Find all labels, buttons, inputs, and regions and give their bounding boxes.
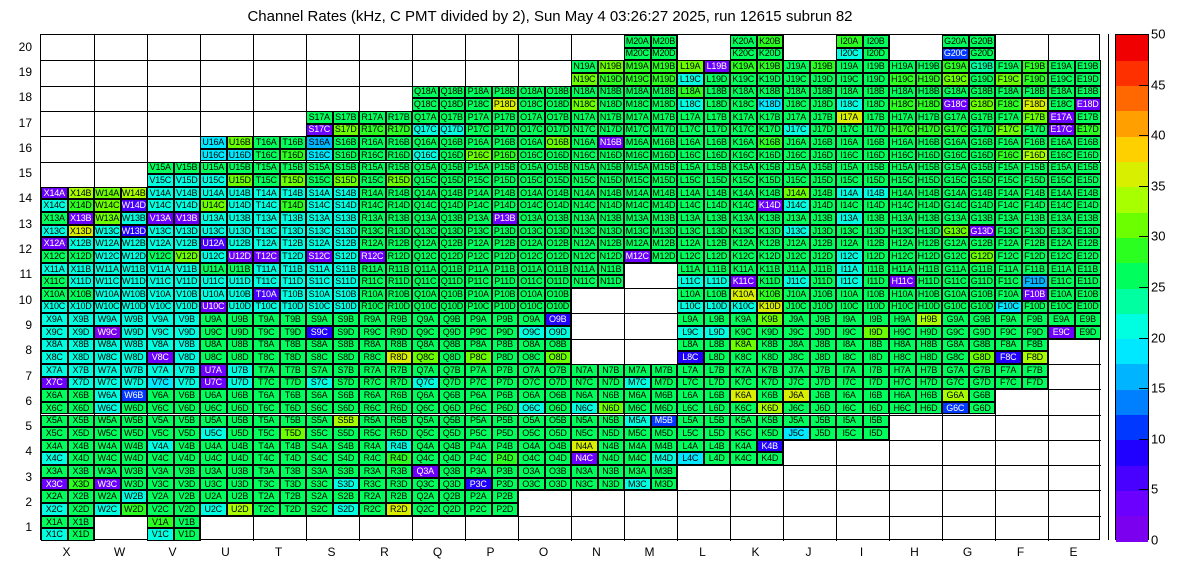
colorbar-tick-mark bbox=[1139, 388, 1149, 389]
heatmap-cell: P2C bbox=[465, 503, 492, 516]
heatmap-cell: T11D bbox=[280, 275, 307, 288]
heatmap-cell: H13B bbox=[916, 212, 943, 225]
heatmap-cell: V10B bbox=[174, 288, 201, 301]
heatmap-cell: E16C bbox=[1048, 149, 1075, 162]
heatmap-cell: X10C bbox=[41, 301, 68, 314]
heatmap-cell: W8C bbox=[94, 351, 121, 364]
heatmap-cell: M4C bbox=[624, 452, 651, 465]
heatmap-cell: F8B bbox=[1022, 339, 1049, 352]
heatmap-cell: S10B bbox=[333, 288, 360, 301]
heatmap-cell: J10A bbox=[783, 288, 810, 301]
heatmap-cell: W10D bbox=[121, 301, 148, 314]
heatmap-cell: V6D bbox=[174, 402, 201, 415]
heatmap-cell: U6D bbox=[227, 402, 254, 415]
heatmap-cell: H17A bbox=[889, 111, 916, 124]
heatmap-cell: R2C bbox=[359, 503, 386, 516]
heatmap-cell: P15A bbox=[465, 162, 492, 175]
heatmap-cell: Q18C bbox=[412, 98, 439, 111]
heatmap-cell: J14A bbox=[783, 187, 810, 200]
heatmap-cell: U15B bbox=[227, 162, 254, 175]
heatmap-cell: F8C bbox=[995, 351, 1022, 364]
heatmap-cell: I11D bbox=[863, 275, 890, 288]
heatmap-cell: L14A bbox=[677, 187, 704, 200]
heatmap-cell: R12C bbox=[359, 250, 386, 263]
heatmap-cell: W9D bbox=[121, 326, 148, 339]
heatmap-cell: F7A bbox=[995, 364, 1022, 377]
heatmap-cell: S14C bbox=[306, 199, 333, 212]
heatmap-cell: M7C bbox=[624, 377, 651, 390]
heatmap-cell: V7C bbox=[147, 377, 174, 390]
heatmap-cell: N16B bbox=[598, 136, 625, 149]
heatmap-cell: S17C bbox=[306, 124, 333, 137]
heatmap-cell: X7C bbox=[41, 377, 68, 390]
heatmap-cell: O3A bbox=[518, 465, 545, 478]
heatmap-cell: J5A bbox=[783, 415, 810, 428]
heatmap-cell: X11C bbox=[41, 275, 68, 288]
heatmap-cell: O8D bbox=[545, 351, 572, 364]
heatmap-cell: T2D bbox=[280, 503, 307, 516]
x-axis-tick-label: M bbox=[623, 545, 676, 559]
heatmap-cell: N11A bbox=[571, 263, 598, 276]
heatmap-cell: L10D bbox=[704, 301, 731, 314]
heatmap-cell: H13D bbox=[916, 225, 943, 238]
heatmap-cell: T6A bbox=[253, 389, 280, 402]
heatmap-cell: X9D bbox=[68, 326, 95, 339]
heatmap-cell: K5D bbox=[757, 427, 784, 440]
heatmap-cell: T7D bbox=[280, 377, 307, 390]
heatmap-cell: F14B bbox=[1022, 187, 1049, 200]
heatmap-cell: I9A bbox=[836, 313, 863, 326]
heatmap-cell: M14B bbox=[651, 187, 678, 200]
heatmap-cell: N17D bbox=[598, 124, 625, 137]
grid-line-horizontal bbox=[41, 111, 1101, 112]
heatmap-cell: M20D bbox=[651, 48, 678, 61]
heatmap-cell: N5A bbox=[571, 415, 598, 428]
x-axis-tick-label: Q bbox=[411, 545, 464, 559]
y-axis-tick-label: 17 bbox=[0, 116, 32, 130]
heatmap-cell: R10B bbox=[386, 288, 413, 301]
heatmap-cell: J19A bbox=[783, 60, 810, 73]
heatmap-cell: T6C bbox=[253, 402, 280, 415]
heatmap-cell: N12B bbox=[598, 237, 625, 250]
heatmap-cell: X4B bbox=[68, 440, 95, 453]
heatmap-cell: T14D bbox=[280, 199, 307, 212]
heatmap-cell: Q2C bbox=[412, 503, 439, 516]
heatmap-cell: J15D bbox=[810, 174, 837, 187]
heatmap-cell: E9D bbox=[1075, 326, 1102, 339]
heatmap-cell: L5A bbox=[677, 415, 704, 428]
heatmap-cell: K13D bbox=[757, 225, 784, 238]
heatmap-cell: K20B bbox=[757, 35, 784, 48]
x-axis-tick-label: V bbox=[146, 545, 199, 559]
heatmap-cell: T9D bbox=[280, 326, 307, 339]
heatmap-cell: W2A bbox=[94, 490, 121, 503]
heatmap-cell: M3C bbox=[624, 478, 651, 491]
heatmap-cell: I19D bbox=[863, 73, 890, 86]
heatmap-cell: F16C bbox=[995, 149, 1022, 162]
heatmap-cell: X13D bbox=[68, 225, 95, 238]
heatmap-cell: H16C bbox=[889, 149, 916, 162]
heatmap-cell: Q9C bbox=[412, 326, 439, 339]
heatmap-cell: X1B bbox=[68, 516, 95, 529]
heatmap-cell: Q15A bbox=[412, 162, 439, 175]
heatmap-cell: U14B bbox=[227, 187, 254, 200]
heatmap-cell: N19C bbox=[571, 73, 598, 86]
heatmap-cell: U5A bbox=[200, 415, 227, 428]
heatmap-cell: H11D bbox=[916, 275, 943, 288]
heatmap-cell: O11D bbox=[545, 275, 572, 288]
heatmap-cell: L7B bbox=[704, 364, 731, 377]
heatmap-cell: V5B bbox=[174, 415, 201, 428]
heatmap-cell: K11D bbox=[757, 275, 784, 288]
heatmap-cell: R5B bbox=[386, 415, 413, 428]
y-axis-tick-label: 4 bbox=[0, 444, 32, 458]
heatmap-cell: L8D bbox=[704, 351, 731, 364]
heatmap-cell: M19D bbox=[651, 73, 678, 86]
heatmap-cell: R11C bbox=[359, 275, 386, 288]
colorbar-tick-label: 45 bbox=[1151, 77, 1165, 92]
heatmap-cell: P4A bbox=[465, 440, 492, 453]
heatmap-cell: I6D bbox=[863, 402, 890, 415]
heatmap-cell: P7B bbox=[492, 364, 519, 377]
x-axis-tick-label: F bbox=[994, 545, 1047, 559]
heatmap-cell: P13A bbox=[465, 212, 492, 225]
heatmap-cell: M16A bbox=[624, 136, 651, 149]
page-title: Channel Rates (kHz, C PMT divided by 2),… bbox=[0, 8, 1100, 25]
heatmap-plot-area: M20AM20BM20CM20DK20AK20BK20CK20DI20AI20B… bbox=[40, 34, 1100, 540]
heatmap-cell: S8B bbox=[333, 339, 360, 352]
heatmap-cell: I13D bbox=[863, 225, 890, 238]
heatmap-cell: V3B bbox=[174, 465, 201, 478]
heatmap-cell: G7C bbox=[942, 377, 969, 390]
heatmap-cell: N13C bbox=[571, 225, 598, 238]
heatmap-cell: W8B bbox=[121, 339, 148, 352]
heatmap-cell: L13A bbox=[677, 212, 704, 225]
heatmap-cell: I5D bbox=[863, 427, 890, 440]
heatmap-cell: P11B bbox=[492, 263, 519, 276]
heatmap-cell: H18A bbox=[889, 86, 916, 99]
heatmap-cell: U2B bbox=[227, 490, 254, 503]
heatmap-cell: I8A bbox=[836, 339, 863, 352]
heatmap-cell: P6D bbox=[492, 402, 519, 415]
heatmap-cell: E9C bbox=[1048, 326, 1075, 339]
heatmap-cell: R17D bbox=[386, 124, 413, 137]
heatmap-cell: T12D bbox=[280, 250, 307, 263]
heatmap-cell: G10D bbox=[969, 301, 996, 314]
heatmap-cell: I17D bbox=[863, 124, 890, 137]
heatmap-cell: K8A bbox=[730, 339, 757, 352]
heatmap-cell: J17D bbox=[810, 124, 837, 137]
heatmap-cell: F13D bbox=[1022, 225, 1049, 238]
heatmap-cell: P6B bbox=[492, 389, 519, 402]
heatmap-cell: N3D bbox=[598, 478, 625, 491]
heatmap-cell: J10D bbox=[810, 301, 837, 314]
heatmap-cell: N3B bbox=[598, 465, 625, 478]
heatmap-cell: P3D bbox=[492, 478, 519, 491]
colorbar-tick-mark bbox=[1139, 186, 1149, 187]
heatmap-cell: K13C bbox=[730, 225, 757, 238]
heatmap-cell: K10A bbox=[730, 288, 757, 301]
heatmap-cell: H12B bbox=[916, 237, 943, 250]
heatmap-cell: L4C bbox=[677, 452, 704, 465]
heatmap-cell: K9D bbox=[757, 326, 784, 339]
heatmap-cell: L12C bbox=[677, 250, 704, 263]
heatmap-cell: H15D bbox=[916, 174, 943, 187]
heatmap-cell: W14D bbox=[121, 199, 148, 212]
heatmap-cell: V8D bbox=[174, 351, 201, 364]
heatmap-cell: E12D bbox=[1075, 250, 1102, 263]
heatmap-cell: G6C bbox=[942, 402, 969, 415]
heatmap-cell: I5C bbox=[836, 427, 863, 440]
heatmap-cell: P9B bbox=[492, 313, 519, 326]
heatmap-cell: T4B bbox=[280, 440, 307, 453]
heatmap-cell: Q12A bbox=[412, 237, 439, 250]
heatmap-cell: L18C bbox=[677, 98, 704, 111]
heatmap-cell: F18A bbox=[995, 86, 1022, 99]
heatmap-cell: Q13D bbox=[439, 225, 466, 238]
heatmap-cell: I14C bbox=[836, 199, 863, 212]
heatmap-cell: W14B bbox=[121, 187, 148, 200]
heatmap-cell: V13D bbox=[174, 225, 201, 238]
heatmap-cell: K15B bbox=[757, 162, 784, 175]
heatmap-cell: M18A bbox=[624, 86, 651, 99]
heatmap-cell: L9D bbox=[704, 326, 731, 339]
heatmap-cell: G14C bbox=[942, 199, 969, 212]
heatmap-cell: R14B bbox=[386, 187, 413, 200]
heatmap-cell: O10C bbox=[518, 301, 545, 314]
heatmap-cell: H14C bbox=[889, 199, 916, 212]
heatmap-cell: H9C bbox=[889, 326, 916, 339]
heatmap-cell: K13B bbox=[757, 212, 784, 225]
heatmap-cell: Q3B bbox=[439, 465, 466, 478]
heatmap-cell: M17B bbox=[651, 111, 678, 124]
heatmap-cell: U7C bbox=[200, 377, 227, 390]
heatmap-cell: K12D bbox=[757, 250, 784, 263]
heatmap-cell: J12D bbox=[810, 250, 837, 263]
heatmap-cell: T5B bbox=[280, 415, 307, 428]
heatmap-cell: M6D bbox=[651, 402, 678, 415]
heatmap-cell: O15B bbox=[545, 162, 572, 175]
heatmap-cell: P13D bbox=[492, 225, 519, 238]
heatmap-cell: O3D bbox=[545, 478, 572, 491]
heatmap-cell: F15D bbox=[1022, 174, 1049, 187]
colorbar-tick-label: 35 bbox=[1151, 178, 1165, 193]
heatmap-cell: I12C bbox=[836, 250, 863, 263]
heatmap-cell: V5D bbox=[174, 427, 201, 440]
y-axis-tick-label: 8 bbox=[0, 343, 32, 357]
heatmap-cell: Q7C bbox=[412, 377, 439, 390]
heatmap-cell: E19C bbox=[1048, 73, 1075, 86]
heatmap-cell: P8D bbox=[492, 351, 519, 364]
heatmap-cell: K16B bbox=[757, 136, 784, 149]
grid-line-horizontal bbox=[41, 364, 1101, 365]
heatmap-cell: L7A bbox=[677, 364, 704, 377]
heatmap-cell: H8D bbox=[916, 351, 943, 364]
heatmap-cell: Q6B bbox=[439, 389, 466, 402]
heatmap-cell: M13C bbox=[624, 225, 651, 238]
grid-line-horizontal bbox=[41, 187, 1101, 188]
y-axis-tick-label: 5 bbox=[0, 419, 32, 433]
heatmap-cell: P16A bbox=[465, 136, 492, 149]
heatmap-cell: T10B bbox=[280, 288, 307, 301]
heatmap-cell: P18C bbox=[465, 98, 492, 111]
heatmap-cell: O4A bbox=[518, 440, 545, 453]
heatmap-cell: L13D bbox=[704, 225, 731, 238]
heatmap-cell: E10D bbox=[1075, 301, 1102, 314]
heatmap-cell: S16C bbox=[306, 149, 333, 162]
heatmap-cell: Q4C bbox=[412, 452, 439, 465]
heatmap-cell: I13A bbox=[836, 212, 863, 225]
heatmap-cell: W9A bbox=[94, 313, 121, 326]
heatmap-cell: X12D bbox=[68, 250, 95, 263]
heatmap-cell: W10A bbox=[94, 288, 121, 301]
heatmap-cell: W11B bbox=[121, 263, 148, 276]
grid-line-horizontal bbox=[41, 136, 1101, 137]
heatmap-cell: U6A bbox=[200, 389, 227, 402]
heatmap-cell: F9C bbox=[995, 326, 1022, 339]
heatmap-cell: V2C bbox=[147, 503, 174, 516]
heatmap-cell: K9C bbox=[730, 326, 757, 339]
x-axis-tick-label: E bbox=[1047, 545, 1100, 559]
heatmap-cell: U16C bbox=[200, 149, 227, 162]
heatmap-cell: N4A bbox=[571, 440, 598, 453]
heatmap-cell: R7A bbox=[359, 364, 386, 377]
heatmap-cell: M3D bbox=[651, 478, 678, 491]
heatmap-cell: P13C bbox=[465, 225, 492, 238]
heatmap-cell: G20A bbox=[942, 35, 969, 48]
heatmap-cell: E18D bbox=[1075, 98, 1102, 111]
heatmap-cell: K6C bbox=[730, 402, 757, 415]
heatmap-cell: U11B bbox=[227, 263, 254, 276]
heatmap-cell: O15A bbox=[518, 162, 545, 175]
heatmap-cell: J11A bbox=[783, 263, 810, 276]
y-axis-tick-label: 7 bbox=[0, 369, 32, 383]
heatmap-cell: W2C bbox=[94, 503, 121, 516]
heatmap-cell: P14D bbox=[492, 199, 519, 212]
heatmap-cell: W4D bbox=[121, 452, 148, 465]
heatmap-cell: G17B bbox=[969, 111, 996, 124]
heatmap-cell: Q10C bbox=[412, 301, 439, 314]
heatmap-cell: O14D bbox=[545, 199, 572, 212]
heatmap-cell: L13B bbox=[704, 212, 731, 225]
heatmap-cell: T3D bbox=[280, 478, 307, 491]
heatmap-cell: O17D bbox=[545, 124, 572, 137]
heatmap-cell: H13A bbox=[889, 212, 916, 225]
heatmap-cell: K9A bbox=[730, 313, 757, 326]
heatmap-cell: F14A bbox=[995, 187, 1022, 200]
heatmap-cell: K6A bbox=[730, 389, 757, 402]
heatmap-cell: M12D bbox=[651, 250, 678, 263]
heatmap-cell: J5B bbox=[810, 415, 837, 428]
heatmap-cell: P10C bbox=[465, 301, 492, 314]
heatmap-cell: R12A bbox=[359, 237, 386, 250]
heatmap-cell: X6B bbox=[68, 389, 95, 402]
heatmap-cell: P9D bbox=[492, 326, 519, 339]
heatmap-cell: T9A bbox=[253, 313, 280, 326]
heatmap-cell: Q16D bbox=[439, 149, 466, 162]
heatmap-cell: T4D bbox=[280, 452, 307, 465]
heatmap-cell: O16B bbox=[545, 136, 572, 149]
heatmap-cell: I17A bbox=[836, 111, 863, 124]
heatmap-cell: I17B bbox=[863, 111, 890, 124]
heatmap-cell: G16A bbox=[942, 136, 969, 149]
heatmap-cell: I15A bbox=[836, 162, 863, 175]
heatmap-cell: E18B bbox=[1075, 86, 1102, 99]
heatmap-cell: V10A bbox=[147, 288, 174, 301]
heatmap-cell: H15B bbox=[916, 162, 943, 175]
heatmap-cell: S12A bbox=[306, 237, 333, 250]
heatmap-cell: O6D bbox=[545, 402, 572, 415]
heatmap-cell: R17C bbox=[359, 124, 386, 137]
heatmap-cell: T16C bbox=[253, 149, 280, 162]
heatmap-cell: O18B bbox=[545, 86, 572, 99]
grid-line-horizontal bbox=[41, 60, 1101, 61]
heatmap-cell: N7B bbox=[598, 364, 625, 377]
heatmap-cell: O10D bbox=[545, 301, 572, 314]
heatmap-cell: L17A bbox=[677, 111, 704, 124]
heatmap-cell: X13B bbox=[68, 212, 95, 225]
heatmap-cell: P3A bbox=[465, 465, 492, 478]
heatmap-cell: J14C bbox=[783, 199, 810, 212]
heatmap-cell: L18A bbox=[677, 86, 704, 99]
heatmap-cell: S11C bbox=[306, 275, 333, 288]
heatmap-cell: L6D bbox=[704, 402, 731, 415]
heatmap-cell: V6B bbox=[174, 389, 201, 402]
heatmap-cell: I19A bbox=[836, 60, 863, 73]
heatmap-cell: K4A bbox=[730, 440, 757, 453]
heatmap-cell: X11A bbox=[41, 263, 68, 276]
heatmap-cell: P12D bbox=[492, 250, 519, 263]
heatmap-cell: P14C bbox=[465, 199, 492, 212]
y-axis-tick-label: 15 bbox=[0, 166, 32, 180]
x-axis-tick-label: L bbox=[676, 545, 729, 559]
heatmap-cell: M15A bbox=[624, 162, 651, 175]
heatmap-cell: X12C bbox=[41, 250, 68, 263]
heatmap-cell: S15A bbox=[306, 162, 333, 175]
heatmap-cell: E11C bbox=[1048, 275, 1075, 288]
heatmap-cell: I6B bbox=[863, 389, 890, 402]
heatmap-cell: Q5D bbox=[439, 427, 466, 440]
heatmap-cell: F16D bbox=[1022, 149, 1049, 162]
grid-line-horizontal bbox=[41, 162, 1101, 163]
heatmap-cell: O13C bbox=[518, 225, 545, 238]
heatmap-cell: H19C bbox=[889, 73, 916, 86]
heatmap-cell: S3D bbox=[333, 478, 360, 491]
colorbar-tick-mark bbox=[1139, 236, 1149, 237]
heatmap-cell: P14B bbox=[492, 187, 519, 200]
heatmap-cell: Q18D bbox=[439, 98, 466, 111]
heatmap-cell: T9B bbox=[280, 313, 307, 326]
heatmap-cell: X1D bbox=[68, 528, 95, 541]
heatmap-cell: O5A bbox=[518, 415, 545, 428]
heatmap-cell: W13D bbox=[121, 225, 148, 238]
y-axis-tick-label: 3 bbox=[0, 470, 32, 484]
heatmap-cell: M6B bbox=[651, 389, 678, 402]
heatmap-cell: L6B bbox=[704, 389, 731, 402]
grid-line-horizontal bbox=[41, 339, 1101, 340]
heatmap-cell: Q8A bbox=[412, 339, 439, 352]
heatmap-cell: X8B bbox=[68, 339, 95, 352]
heatmap-cell: L17B bbox=[704, 111, 731, 124]
heatmap-cell: H11C bbox=[889, 275, 916, 288]
heatmap-cell: S5B bbox=[333, 415, 360, 428]
heatmap-cell: G18C bbox=[942, 98, 969, 111]
heatmap-cell: H8B bbox=[916, 339, 943, 352]
heatmap-cell: W5D bbox=[121, 427, 148, 440]
heatmap-cell: I11A bbox=[836, 263, 863, 276]
heatmap-cell: G9C bbox=[942, 326, 969, 339]
heatmap-cell: X3D bbox=[68, 478, 95, 491]
